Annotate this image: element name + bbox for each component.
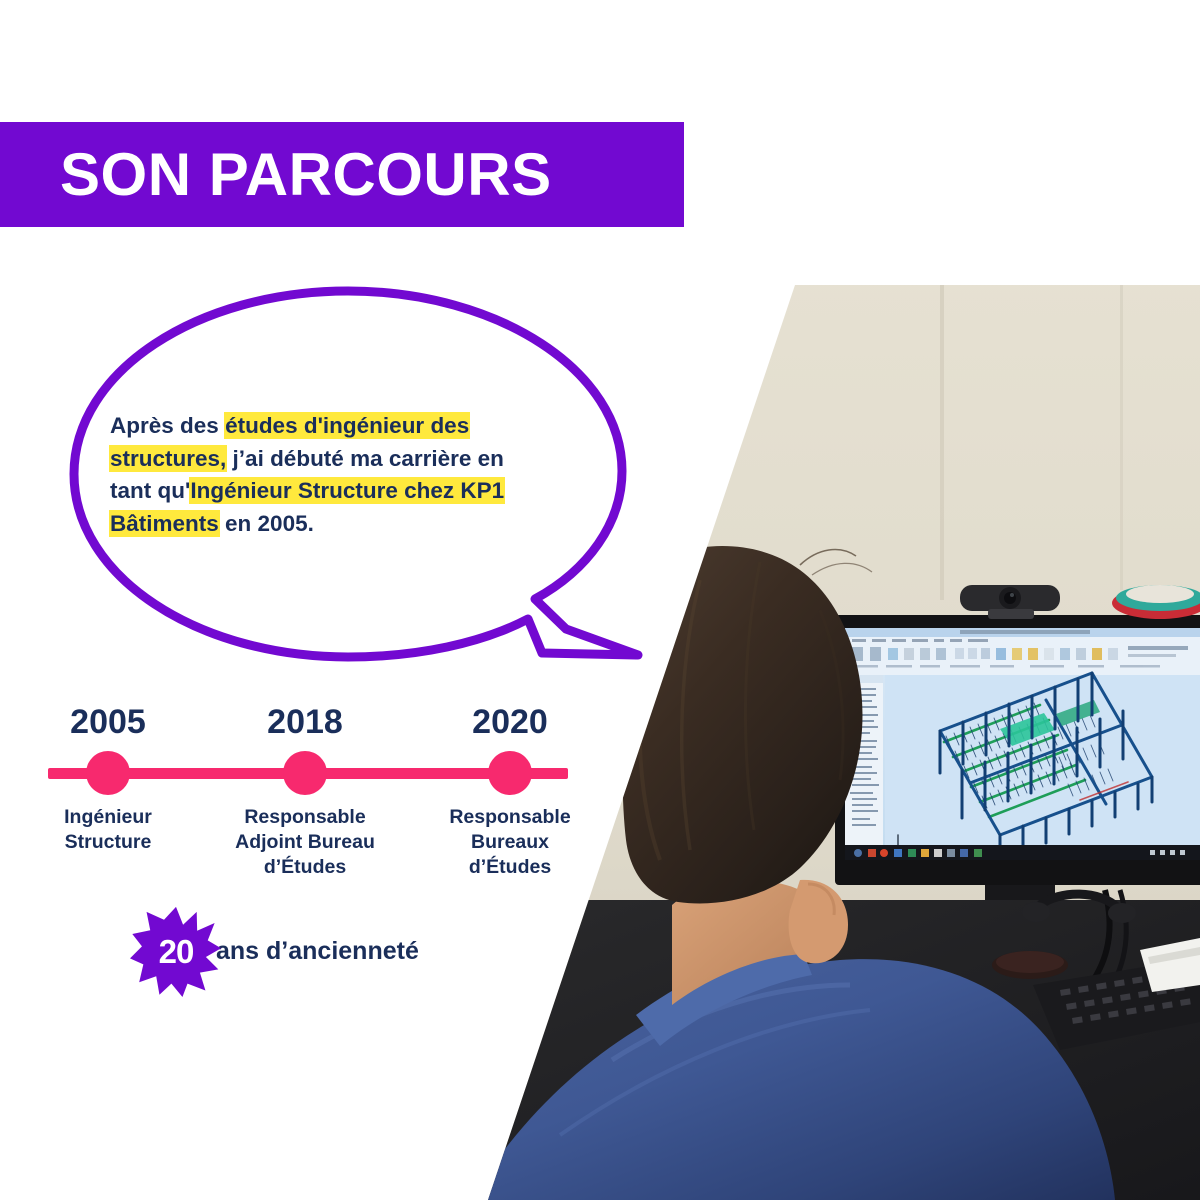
- timeline-node-2005: 2005 Ingénieur Structure: [18, 705, 198, 739]
- wall-seam: [940, 260, 944, 600]
- bubble-seg-3-highlight: structures,: [110, 446, 226, 471]
- timeline-label-line3: d’Études: [469, 856, 551, 878]
- title-banner: SON PARCOURS: [0, 122, 684, 227]
- bubble-seg-8: en 2005.: [219, 511, 314, 536]
- timeline-dot: [488, 751, 532, 795]
- cad-software-window: [845, 628, 1200, 860]
- timeline-year: 2020: [420, 705, 600, 739]
- seniority-badge: 20 ans d’ancienneté: [130, 905, 419, 997]
- speech-bubble-text: Après des études d'ingénieur des structu…: [110, 410, 560, 541]
- bubble-seg-7-highlight: Bâtiments: [110, 511, 219, 536]
- bubble-seg-2-highlight: études d'ingénieur des: [225, 413, 469, 438]
- timeline-label: Responsable Adjoint Bureau d’Études: [215, 805, 395, 880]
- seniority-number: 20: [130, 905, 222, 997]
- timeline-label-line1: Responsable: [244, 806, 365, 828]
- timeline-node-2018: 2018 Responsable Adjoint Bureau d’Études: [215, 705, 395, 739]
- career-timeline: 2005 Ingénieur Structure 2018 Responsabl…: [0, 705, 620, 885]
- desk-object: [1112, 585, 1200, 619]
- timeline-year: 2005: [18, 705, 198, 739]
- bubble-seg-6-highlight: Ingénieur Structure chez KP1: [190, 478, 504, 503]
- timeline-node-2020: 2020 Responsable Bureaux d’Études: [420, 705, 600, 739]
- bubble-seg-4: j’ai débuté ma carrière en: [226, 446, 504, 471]
- timeline-dot: [86, 751, 130, 795]
- timeline-label-line3: d’Études: [264, 856, 346, 878]
- page-title: SON PARCOURS: [60, 145, 552, 205]
- wall-seam-2: [1120, 260, 1123, 590]
- seniority-label: ans d’ancienneté: [216, 937, 419, 966]
- star-burst-icon: 20: [130, 905, 222, 997]
- bubble-seg-5: tant qu': [110, 478, 190, 503]
- bubble-seg-1: Après des: [110, 413, 225, 438]
- timeline-label-line2: Structure: [65, 831, 152, 853]
- speech-bubble: Après des études d'ingénieur des structu…: [30, 285, 690, 675]
- timeline-label-line2: Bureaux: [471, 831, 549, 853]
- timeline-dot: [283, 751, 327, 795]
- timeline-label: Ingénieur Structure: [18, 805, 198, 855]
- timeline-label-line2: Adjoint Bureau: [235, 831, 375, 853]
- timeline-year: 2018: [215, 705, 395, 739]
- timeline-label: Responsable Bureaux d’Études: [420, 805, 600, 880]
- timeline-label-line1: Responsable: [449, 806, 570, 828]
- timeline-label-line1: Ingénieur: [64, 806, 152, 828]
